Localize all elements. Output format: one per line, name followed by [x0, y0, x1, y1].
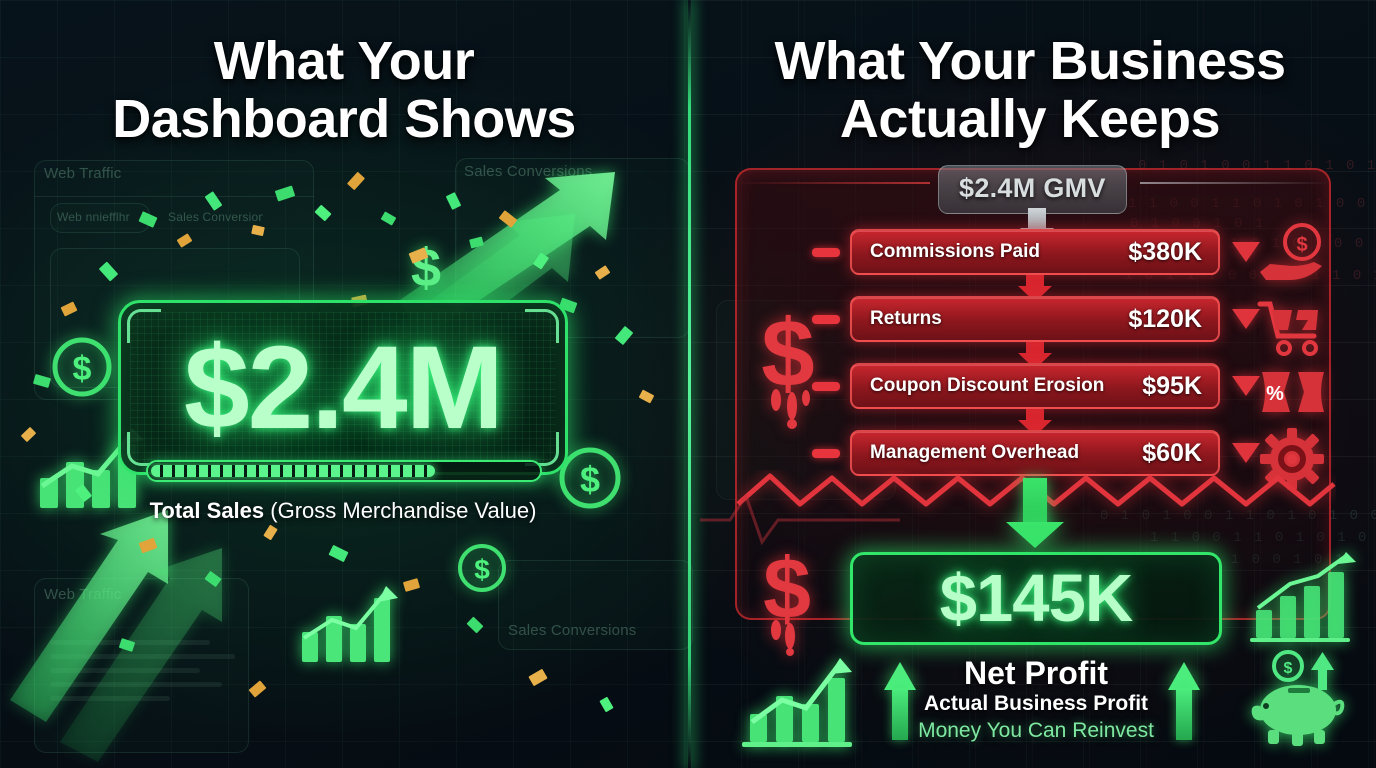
progress-fill: [151, 465, 435, 477]
deduction-row-returns[interactable]: Returns $120K: [850, 296, 1220, 342]
dollar-sign-icon: $: [396, 228, 456, 308]
bar-chart-icon: [292, 568, 412, 668]
hand-coin-icon: $: [1256, 222, 1328, 288]
infographic-canvas: Web Traffic Web nniefflhr Sales Conversi…: [0, 0, 1376, 768]
arrow-shaft: [1176, 688, 1192, 740]
growth-arrow-up-icon: [1168, 662, 1200, 740]
total-sales-value: $2.4M: [121, 303, 565, 472]
arrow-shaft: [892, 688, 908, 740]
pill-rule-right: [1140, 182, 1330, 184]
deduction-label: Commissions Paid: [870, 241, 1040, 263]
deduction-row-coupon[interactable]: Coupon Discount Erosion $95K: [850, 363, 1220, 409]
svg-text:$: $: [73, 350, 92, 388]
arrow-head: [884, 662, 916, 690]
left-headline: What Your Dashboard Shows: [22, 32, 666, 148]
deduction-amount: $60K: [1142, 439, 1202, 468]
minus-sign-icon: [812, 449, 840, 458]
deduction-amount: $95K: [1142, 372, 1202, 401]
growth-arrow-up-icon: [884, 662, 916, 740]
net-profit-value: $145K: [853, 555, 1219, 642]
bar-chart-growth-icon: [1248, 552, 1358, 648]
bar-chart-growth-icon: [736, 642, 856, 752]
center-divider: [688, 0, 691, 768]
broken-cart-icon: [1256, 296, 1332, 360]
svg-text:$: $: [1284, 660, 1293, 677]
right-headline: What Your Business Actually Keeps: [700, 32, 1360, 148]
net-profit-card: $145K: [850, 552, 1222, 645]
svg-text:%: %: [1266, 383, 1284, 405]
decrease-triangle-icon: [1232, 376, 1260, 396]
dollar-coin-icon: $: [452, 538, 512, 598]
pulse-line-icon: [700, 480, 900, 560]
net-profit-arrow-head: [1006, 522, 1064, 548]
torn-coupon-icon: %: [1258, 364, 1330, 420]
dollar-coin-icon: $: [45, 330, 119, 404]
gmv-pill: $2.4M GMV: [938, 165, 1127, 214]
deduction-row-commissions[interactable]: Commissions Paid $380K: [850, 229, 1220, 275]
svg-text:$: $: [411, 238, 441, 298]
caption-rest: (Gross Merchandise Value): [264, 498, 536, 523]
svg-text:$: $: [580, 459, 600, 500]
minus-sign-icon: [812, 382, 840, 391]
caption-bold: Total Sales: [150, 498, 265, 523]
piggy-bank-icon: $: [1248, 648, 1360, 748]
total-sales-caption: Total Sales (Gross Merchandise Value): [118, 498, 568, 524]
total-sales-progress-bar: [146, 460, 542, 482]
deduction-amount: $380K: [1128, 238, 1202, 267]
pill-rule-left: [735, 182, 930, 184]
net-profit-arrow-shaft: [1023, 478, 1047, 526]
total-sales-card: $2.4M: [118, 300, 568, 475]
deduction-amount: $120K: [1128, 305, 1202, 334]
arrow-head: [1168, 662, 1200, 690]
gmv-arrow-shaft: [1028, 208, 1046, 230]
decrease-triangle-icon: [1232, 443, 1260, 463]
deduction-label: Coupon Discount Erosion: [870, 375, 1104, 397]
deduction-label: Management Overhead: [870, 442, 1079, 464]
deduction-label: Returns: [870, 308, 942, 330]
svg-text:$: $: [474, 554, 490, 585]
minus-sign-icon: [812, 248, 840, 257]
svg-text:$: $: [1296, 234, 1307, 256]
minus-sign-icon: [812, 315, 840, 324]
